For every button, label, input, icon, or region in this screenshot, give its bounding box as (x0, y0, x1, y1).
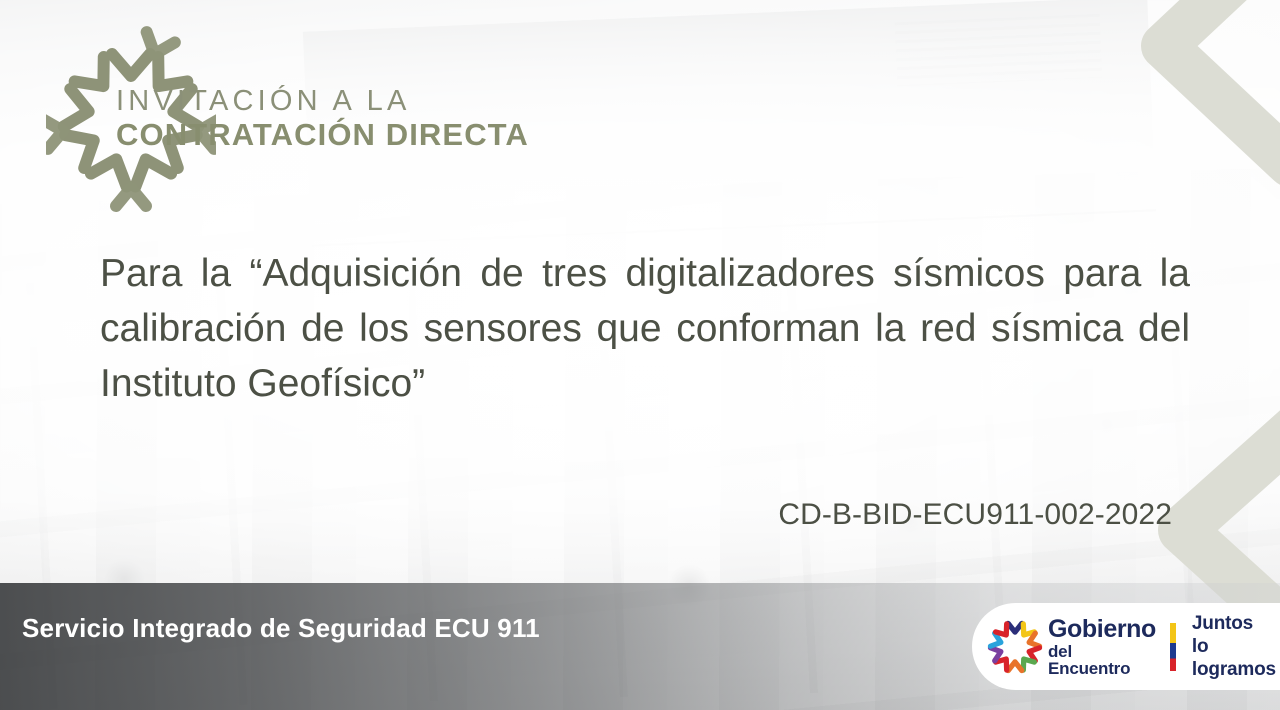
logo-tagline-line2: lo logramos (1192, 635, 1280, 681)
invitation-slide: INVITACIÓN A LA CONTRATACIÓN DIRECTA Par… (0, 0, 1280, 710)
logo-wordmark-top: Gobierno (1048, 617, 1156, 642)
logo-tagline: Juntos lo logramos (1192, 612, 1280, 682)
header-title: CONTRATACIÓN DIRECTA (116, 116, 529, 155)
procurement-description: Para la “Adquisición de tres digitalizad… (100, 246, 1190, 411)
slide-header: INVITACIÓN A LA CONTRATACIÓN DIRECTA (46, 24, 606, 214)
header-eyebrow: INVITACIÓN A LA (116, 86, 529, 116)
footer-organization-name: Servicio Integrado de Seguridad ECU 911 (22, 613, 540, 644)
header-titles: INVITACIÓN A LA CONTRATACIÓN DIRECTA (116, 86, 529, 155)
government-logo-panel: Gobierno del Encuentro Juntos lo logramo… (972, 603, 1280, 690)
gobierno-radial-chevron-burst-icon (984, 616, 1046, 678)
ecuador-flag-bar-icon (1170, 623, 1176, 671)
gobierno-wordmark: Gobierno del Encuentro (1048, 617, 1156, 677)
procurement-reference-code: CD-B-BID-ECU911-002-2022 (778, 498, 1172, 532)
logo-wordmark-bottom: del Encuentro (1048, 643, 1156, 677)
logo-tagline-line1: Juntos (1192, 612, 1280, 635)
